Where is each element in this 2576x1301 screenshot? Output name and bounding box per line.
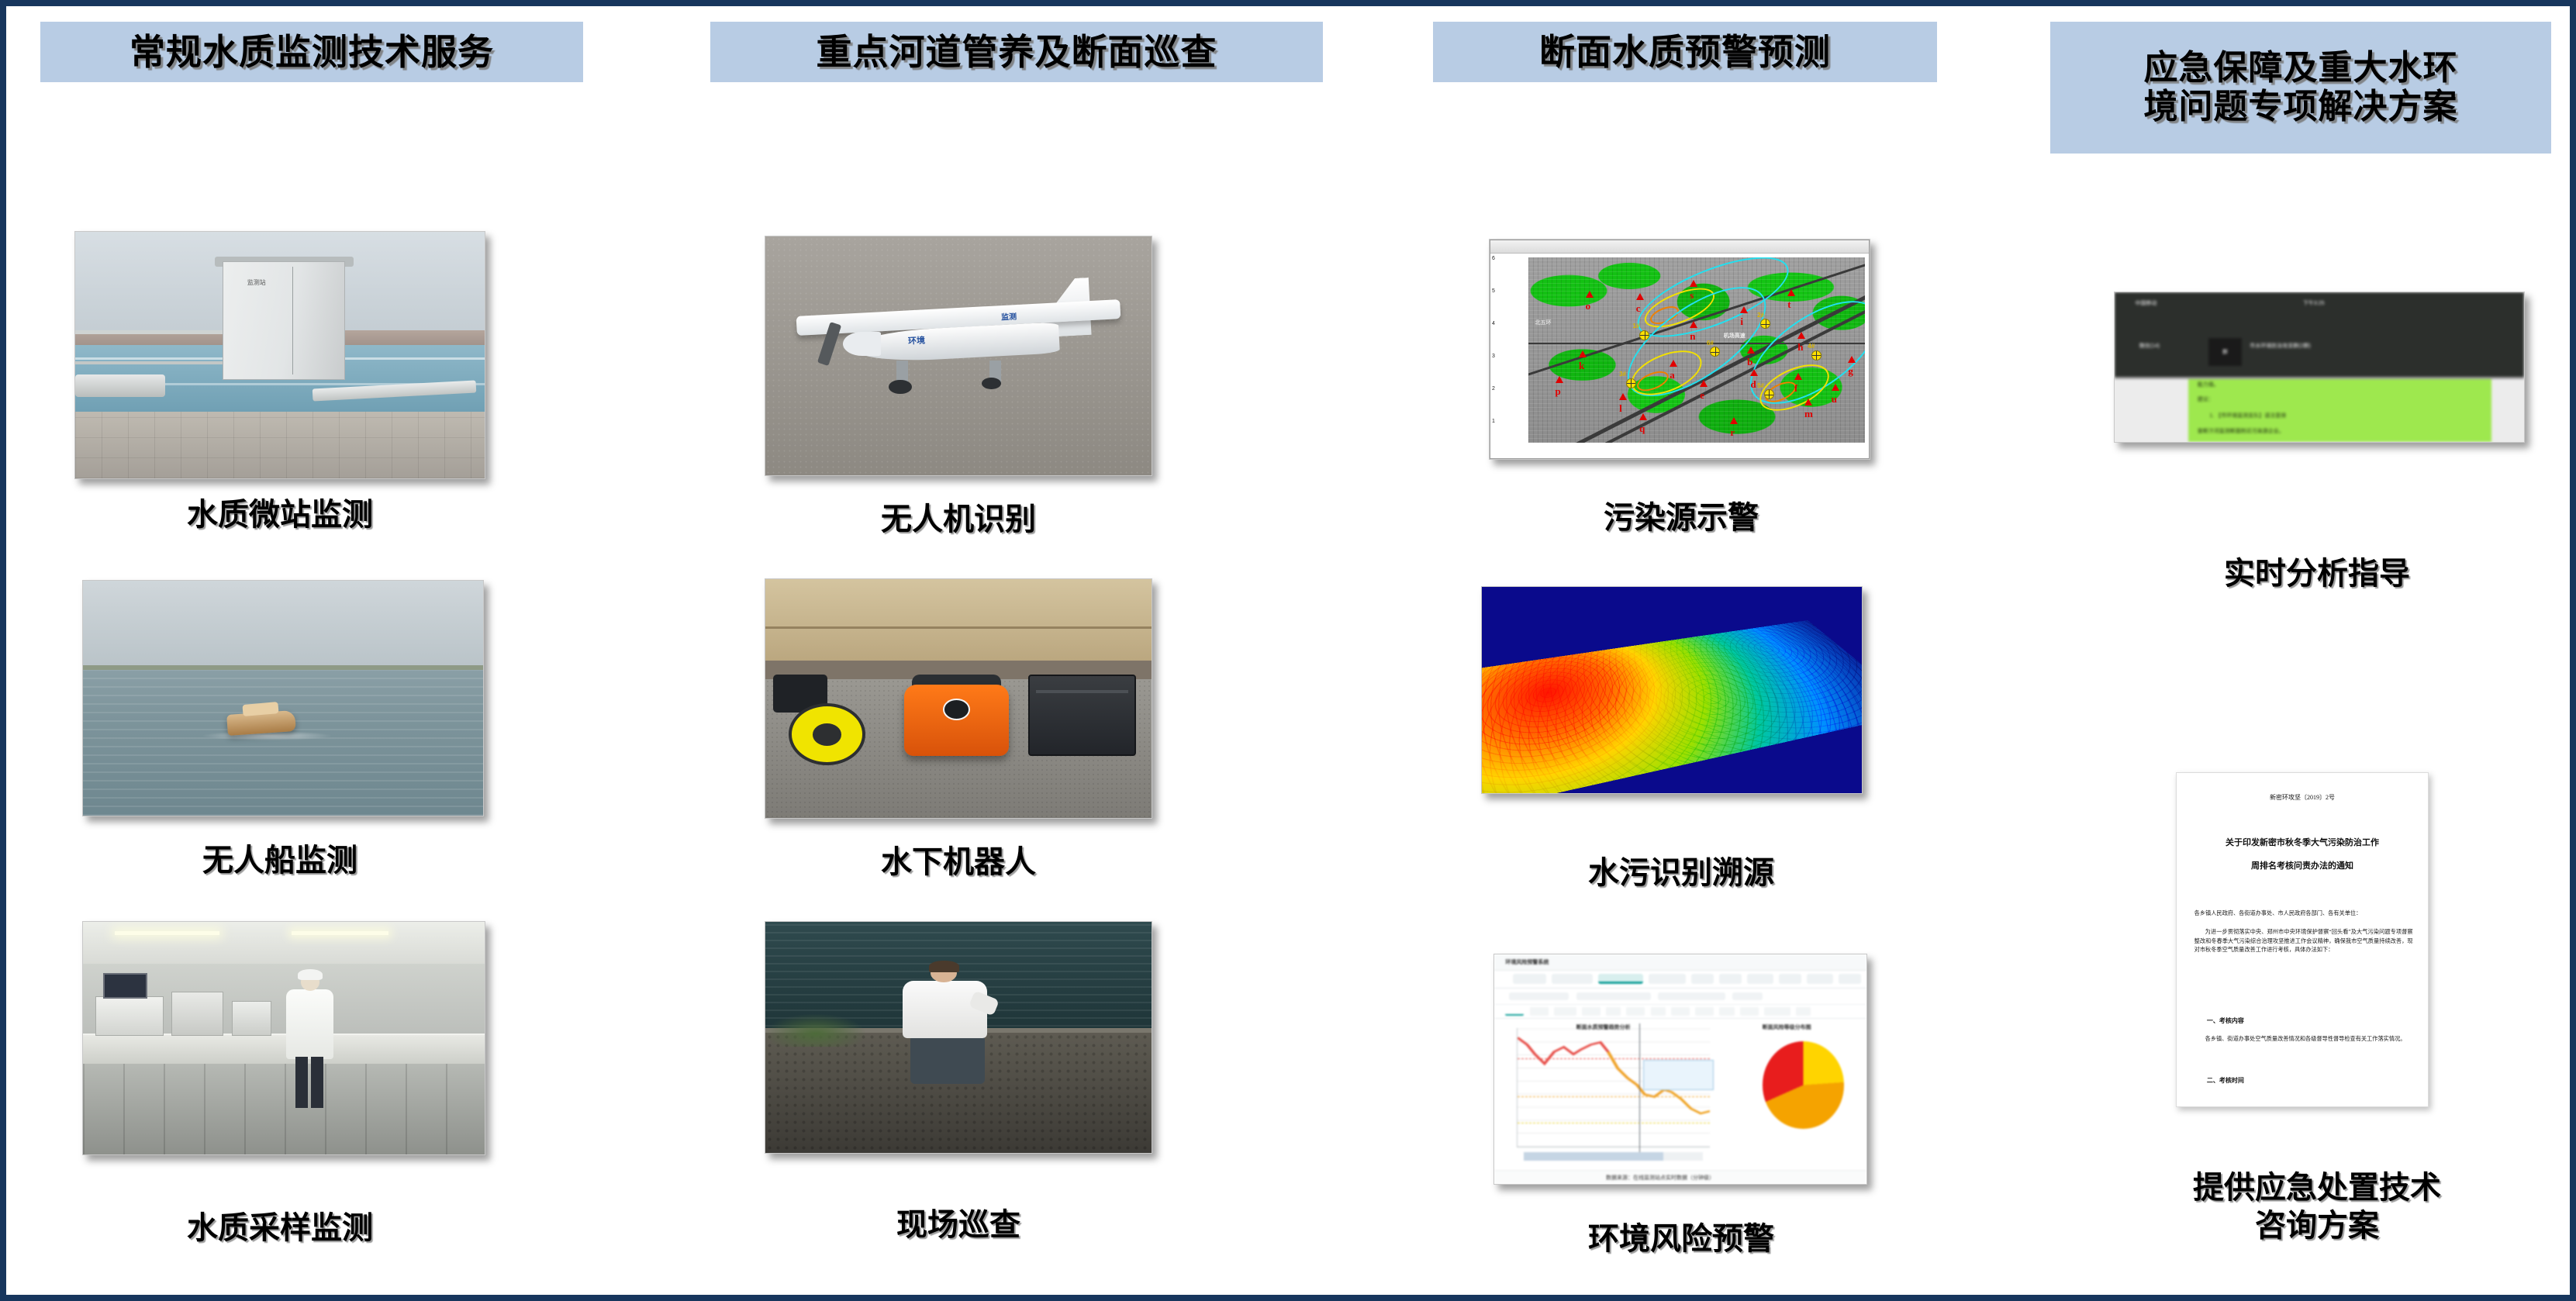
source-marker-n: n — [1690, 330, 1695, 343]
official-notice-document: 新密环攻坚〔2019〕2号 关于印发新密市秋冬季大气污染防治工作 周排名考核问责… — [2176, 772, 2429, 1107]
station-label-6: 6# — [1707, 340, 1714, 347]
column-header-2-label: 重点河道管养及断面巡查 — [817, 32, 1217, 72]
dashboard-chart-scrollbar[interactable] — [1524, 1152, 1702, 1161]
column-header-4: 应急保障及重大水环 境问题专项解决方案 — [2050, 22, 2551, 154]
dashboard-filter-bar[interactable] — [1494, 989, 1866, 1005]
source-marker-l: l — [1619, 402, 1622, 415]
caption-4-2: 提供应急处置技术 咨询方案 — [2100, 1169, 2534, 1245]
caption-2-1: 无人机识别 — [757, 501, 1160, 539]
doc-title-line-1: 关于印发新密市秋冬季大气污染防治工作 — [2197, 837, 2408, 850]
doc-title-line-2: 周排名考核问责办法的通知 — [2197, 860, 2408, 873]
caption-3-2: 水污识别溯源 — [1480, 854, 1883, 892]
slide-canvas: 常规水质监测技术服务 监测站 水质微站监测 无人船监测 — [0, 0, 2576, 1301]
caption-1-2: 无人船监测 — [74, 842, 485, 880]
source-marker-q: q — [1639, 423, 1645, 435]
source-marker-s: s — [1690, 289, 1694, 302]
map-y-tick-5: 5 — [1492, 288, 1495, 294]
map-y-tick-4: 4 — [1492, 321, 1495, 326]
source-marker-r: r — [1730, 426, 1735, 439]
map-label-beiwuhuan: 北五环 — [1535, 319, 1551, 326]
source-marker-e: e — [1700, 389, 1704, 402]
column-header-2: 重点河道管养及断面巡查 — [710, 22, 1323, 82]
source-marker-d: d — [1750, 378, 1756, 391]
phone-group-name: 市水环境防治攻坚群(2群) — [2250, 342, 2311, 350]
dashboard-tab-bar[interactable] — [1494, 971, 1866, 989]
source-marker-g: g — [1848, 365, 1853, 378]
column-header-3: 断面水质预警预测 — [1433, 22, 1937, 82]
caption-1-3: 水质采样监测 — [74, 1210, 485, 1248]
field-inspection-riverbank-photo — [765, 921, 1152, 1154]
station-marker-1 — [1639, 330, 1649, 340]
source-marker-u: u — [1832, 393, 1837, 405]
dashboard-chart-title-right: 断面风险等级分布图 — [1763, 1023, 1811, 1031]
message-line-1: 能力值。 — [2198, 381, 2219, 388]
station-label-3: 3# — [1619, 371, 1626, 378]
station-marker-5 — [1764, 389, 1774, 399]
map-y-tick-6: 6 — [1492, 256, 1495, 261]
source-marker-p: p — [1556, 385, 1561, 398]
map-label-airport-expressway: 机场高速 — [1724, 332, 1746, 340]
caption-4-1: 实时分析指导 — [2100, 555, 2534, 593]
phone-back-label[interactable]: 微信(14) — [2139, 342, 2160, 350]
source-marker-b: b — [1747, 356, 1752, 368]
station-marker-3 — [1626, 378, 1636, 388]
station-label-2: 2# — [1757, 312, 1764, 319]
fixed-wing-drone-photo: 环境 监测 — [765, 236, 1152, 476]
phone-carrier-label: 中国移动 — [2135, 299, 2156, 307]
caption-3-1: 污染源示警 — [1480, 499, 1883, 537]
laboratory-sampling-analysis-photo — [82, 921, 485, 1155]
dashboard-chart-tooltip — [1643, 1060, 1714, 1089]
column-header-1: 常规水质监测技术服务 — [40, 22, 583, 82]
source-marker-f: f — [1794, 382, 1797, 395]
message-bubble: 能力值。 建议： 1. 【市环境监测支队】请注意排 查断汴河监测断面附近污染源企… — [2188, 379, 2491, 442]
source-marker-i: i — [1740, 316, 1743, 328]
station-cabinet-label: 监测站 — [247, 278, 266, 287]
doc-addressee: 各乡镇人民政府、各街道办事处、市人民政府各部门、各有关单位： — [2194, 909, 2413, 919]
underwater-robot-equipment-photo — [765, 578, 1152, 819]
caption-2-2: 水下机器人 — [757, 844, 1160, 882]
message-line-3: 1. 【市环境监测支队】请注意排 — [2209, 412, 2286, 419]
column-header-4-label: 应急保障及重大水环 境问题专项解决方案 — [2144, 49, 2458, 126]
message-line-2: 建议： — [2198, 395, 2214, 403]
station-label-1: 1# — [1632, 323, 1639, 330]
source-marker-a: a — [1670, 369, 1675, 381]
doc-number: 新密环攻坚〔2019〕2号 — [2177, 793, 2428, 802]
doc-section-1-body: 各乡镇、街道办事处空气质量改善情况和各级督导性督导检查有关工作落实情况。 — [2194, 1035, 2413, 1044]
source-marker-c: c — [1636, 302, 1641, 315]
source-marker-k: k — [1579, 360, 1584, 372]
dashboard-risk-pie-chart — [1763, 1041, 1845, 1128]
doc-body: 为进一步贯彻落实中央、郑州市中央环境保护督察“回头看”及大气污染问题专项督察整改… — [2194, 928, 2413, 955]
drone-body-marking: 环境 — [908, 334, 926, 347]
map-y-tick-2: 2 — [1492, 386, 1495, 392]
pollution-source-satellite-map: 6 5 4 3 2 1 — [1489, 239, 1870, 460]
dashboard-parameter-tabs[interactable] — [1494, 1005, 1866, 1019]
phone-time-label: 下午3:25 — [2303, 299, 2325, 307]
water-quality-micro-station-photo: 监测站 — [74, 231, 485, 479]
source-marker-t: t — [1787, 299, 1790, 311]
environmental-risk-dashboard: 环境风险预警系统 — [1493, 954, 1867, 1185]
wechat-group-alert-screenshot: 中国移动 下午3:25 微信(14) 群 市水环境防治攻坚群(2群) 能力值。 … — [2114, 292, 2525, 443]
source-marker-o: o — [1586, 300, 1591, 312]
group-avatar: 群 — [2208, 338, 2241, 366]
source-marker-h: h — [1797, 341, 1803, 354]
caption-2-3: 现场巡查 — [757, 1206, 1160, 1244]
map-y-tick-1: 1 — [1492, 419, 1495, 424]
station-label-5: 5# — [1757, 382, 1764, 389]
caption-1-1: 水质微站监测 — [74, 496, 485, 534]
unmanned-boat-on-river-photo — [82, 580, 484, 816]
message-line-4: 查断汴河监测断面附近污染源企业。 — [2198, 427, 2284, 435]
source-marker-m: m — [1804, 408, 1813, 420]
map-y-tick-3: 3 — [1492, 354, 1495, 359]
drone-tail-marking: 监测 — [1000, 310, 1017, 323]
column-header-3-label: 断面水质预警预测 — [1539, 32, 1831, 72]
dashboard-footer-note: 数据来源：在线监测站点实时数据（分钟级） — [1606, 1174, 1714, 1182]
satellite-imagery: 北五环 机场高速 s o c i t n h k a b g p d e — [1528, 257, 1865, 443]
dashboard-window-label: 环境风险预警系统 — [1505, 958, 1549, 966]
station-label-4: 4# — [1808, 343, 1815, 350]
doc-section-1: 一、考核内容 — [2207, 1016, 2244, 1025]
column-header-1-label: 常规水质监测技术服务 — [129, 32, 494, 72]
doc-section-2: 二、考核时间 — [2207, 1076, 2244, 1085]
pollution-diffusion-heatmap — [1481, 586, 1863, 794]
station-marker-4 — [1811, 350, 1822, 361]
caption-3-3: 环境风险预警 — [1480, 1220, 1883, 1258]
